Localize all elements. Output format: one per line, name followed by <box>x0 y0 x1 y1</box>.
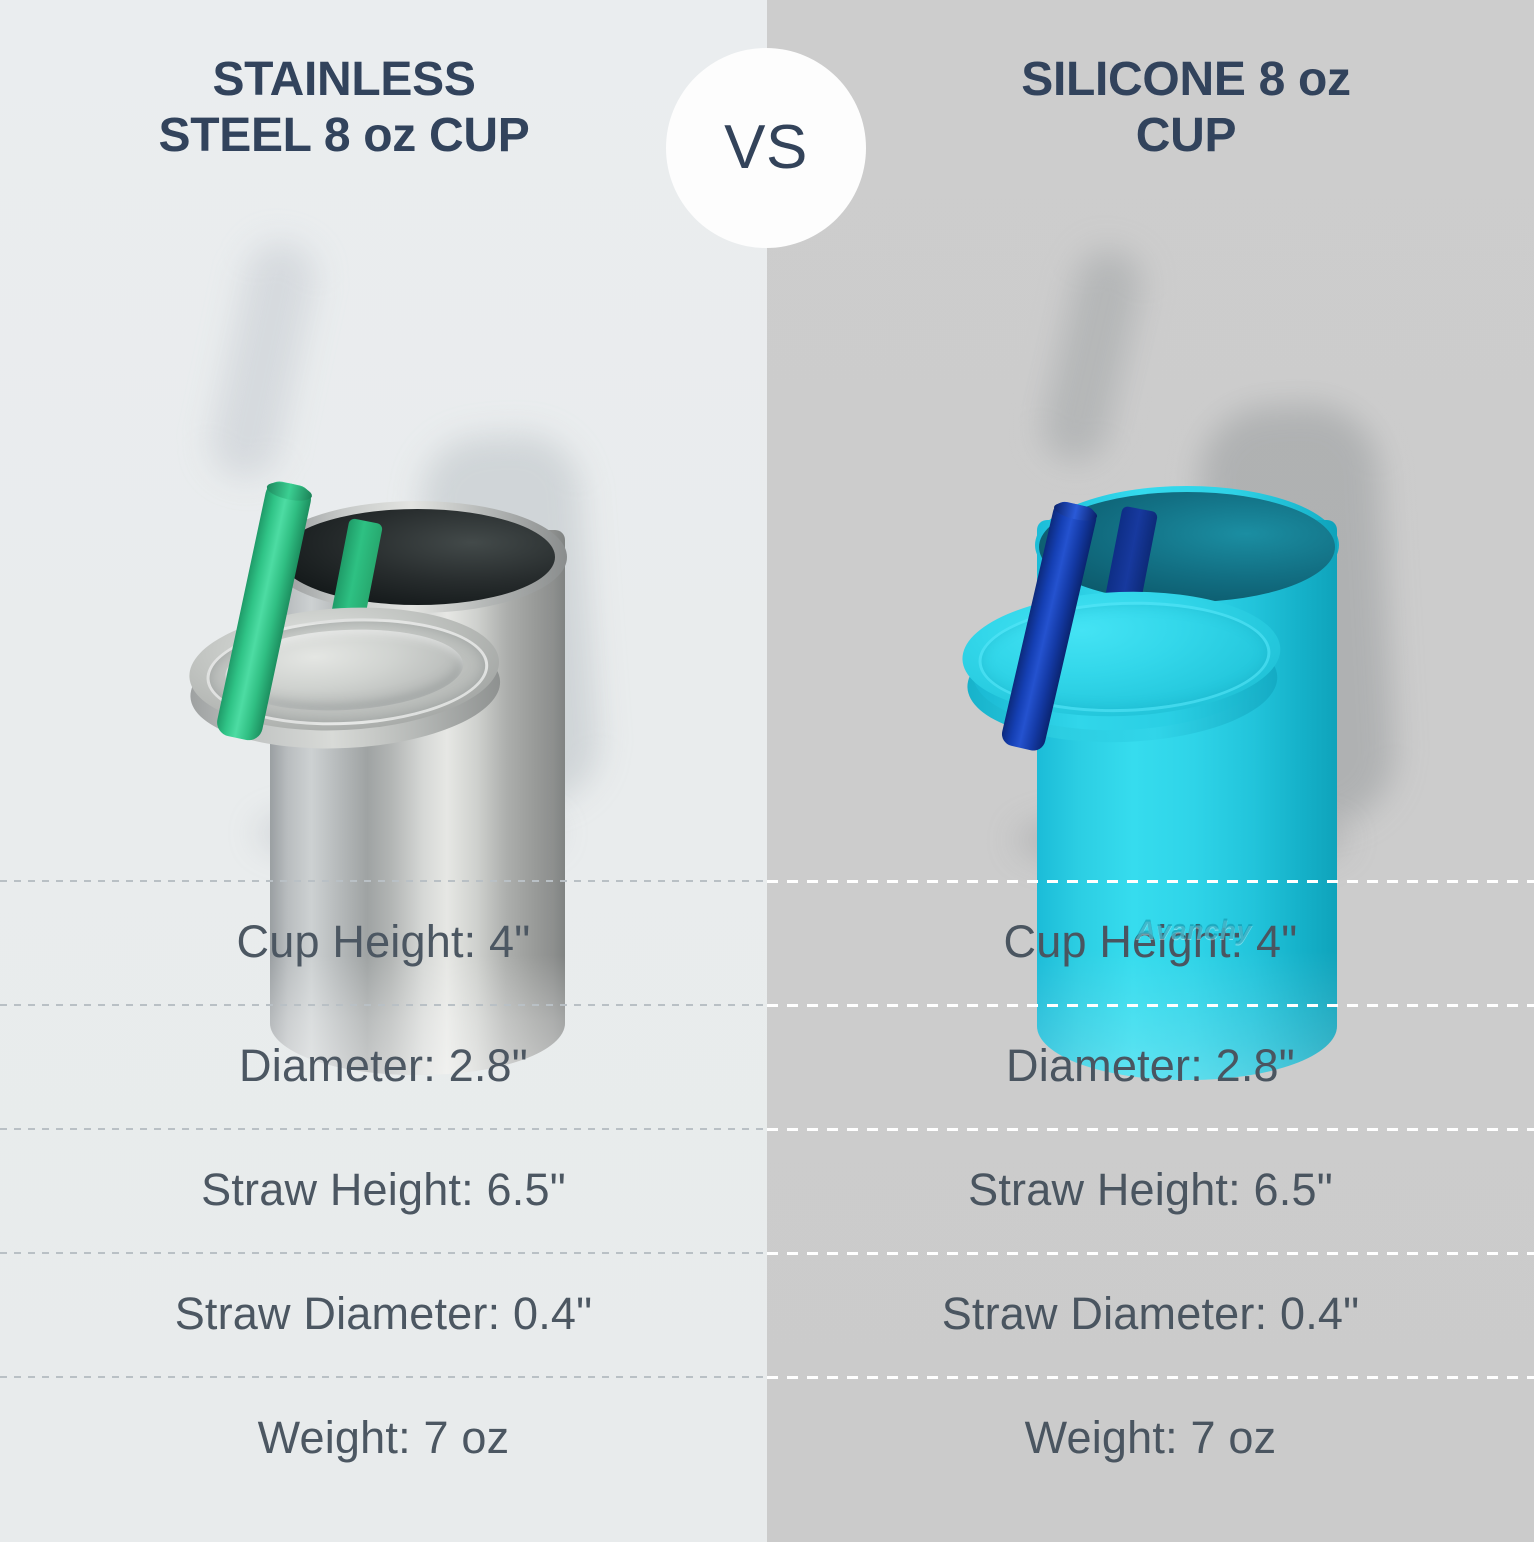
stainless-steel-cup-image <box>0 230 767 880</box>
left-product-title: STAINLESS STEEL 8 oz CUP <box>44 52 644 164</box>
spec-value-right: Weight: 7 oz <box>767 1376 1534 1500</box>
spec-value-right: Straw Diameter: 0.4" <box>767 1252 1534 1376</box>
cup-rim-inner <box>280 509 555 605</box>
right-product-title: SILICONE 8 oz CUP <box>886 52 1486 164</box>
spec-value-left: Weight: 7 oz <box>0 1376 767 1500</box>
spec-value-left: Straw Diameter: 0.4" <box>0 1252 767 1376</box>
spec-value-right: Diameter: 2.8" <box>767 1004 1534 1128</box>
spec-row-cup-height: Cup Height: 4" Cup Height: 4" <box>0 880 1534 1004</box>
vs-badge: VS <box>666 48 866 248</box>
spec-value-left: Straw Height: 6.5" <box>0 1128 767 1252</box>
spec-value-right: Straw Height: 6.5" <box>767 1128 1534 1252</box>
avanchy-brand-logo: Avanchy <box>1119 915 1269 946</box>
spec-row-straw-diameter: Straw Diameter: 0.4" Straw Diameter: 0.4… <box>0 1252 1534 1376</box>
vs-label: VS <box>724 117 808 179</box>
straw-shadow <box>204 235 322 484</box>
spec-value-left: Cup Height: 4" <box>0 880 767 1004</box>
straw-shadow <box>1036 243 1149 467</box>
spec-comparison-table: Cup Height: 4" Cup Height: 4" Diameter: … <box>0 880 1534 1542</box>
spec-row-straw-height: Straw Height: 6.5" Straw Height: 6.5" <box>0 1128 1534 1252</box>
spec-row-diameter: Diameter: 2.8" Diameter: 2.8" <box>0 1004 1534 1128</box>
spec-value-left: Diameter: 2.8" <box>0 1004 767 1128</box>
comparison-page: STAINLESS STEEL 8 oz CUP SILICONE 8 oz C… <box>0 0 1534 1542</box>
spec-row-weight: Weight: 7 oz Weight: 7 oz <box>0 1376 1534 1500</box>
silicone-cup-image: Avanchy <box>767 230 1534 880</box>
